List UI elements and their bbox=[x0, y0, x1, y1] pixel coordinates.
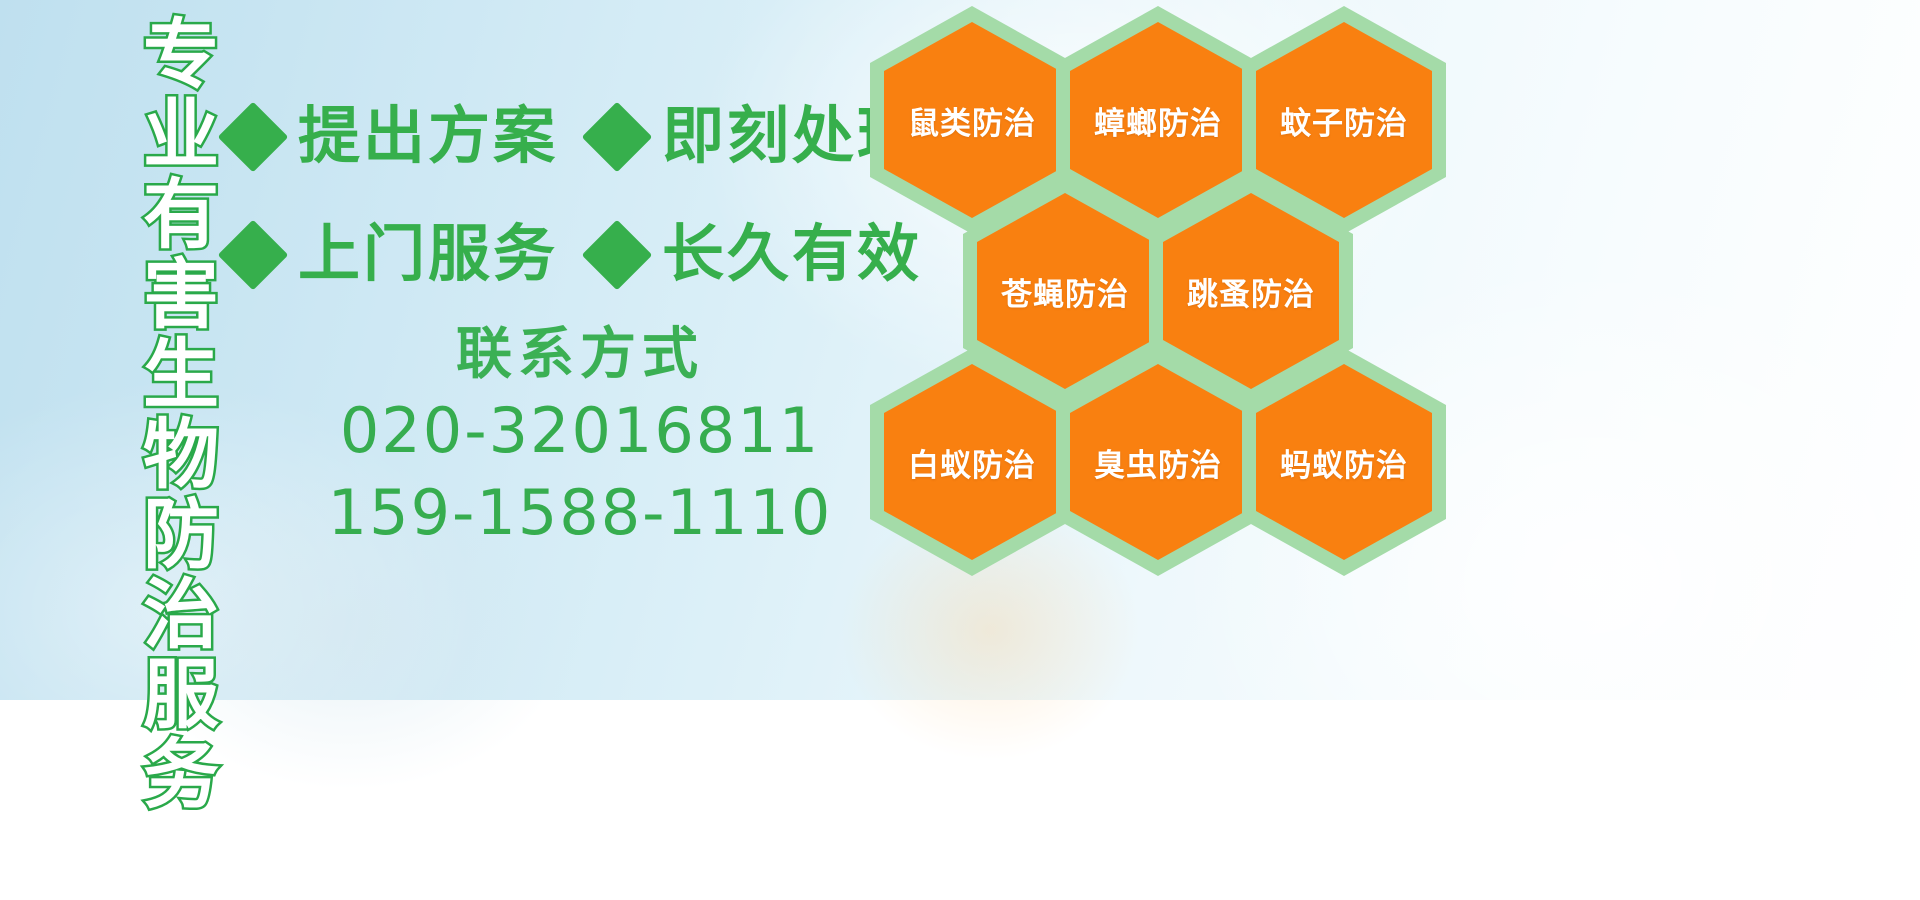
hex-label: 臭虫防治 bbox=[1094, 440, 1222, 485]
vertical-headline: 专业有害生物防治服务 bbox=[108, 14, 212, 814]
hex-inner: 蚊子防治 bbox=[1256, 22, 1432, 218]
hex-inner: 蚂蚁防治 bbox=[1256, 364, 1432, 560]
diamond-icon bbox=[582, 102, 653, 173]
diamond-icon bbox=[218, 220, 289, 291]
service-honeycomb: 鼠类防治 蟑螂防治 蚊子防治 苍蝇防治 跳蚤防治 白蚁防治 bbox=[852, 0, 1472, 568]
phone-number-mobile[interactable]: 159-1588-1110 bbox=[300, 472, 860, 554]
contact-title: 联系方式 bbox=[300, 318, 860, 390]
hex-inner: 蟑螂防治 bbox=[1070, 22, 1246, 218]
slogan-row: 提出方案 即刻处理 bbox=[228, 78, 888, 196]
hex-label: 白蚁防治 bbox=[908, 440, 1036, 485]
hex-inner: 白蚁防治 bbox=[884, 364, 1060, 560]
hex-label: 苍蝇防治 bbox=[1001, 269, 1129, 314]
contact-block: 联系方式 020-32016811 159-1588-1110 bbox=[300, 318, 860, 553]
hex-inner: 苍蝇防治 bbox=[977, 193, 1153, 389]
slogan-item: 上门服务 bbox=[228, 224, 558, 286]
phone-number-landline[interactable]: 020-32016811 bbox=[300, 390, 860, 472]
promo-banner: 专业有害生物防治服务 提出方案 即刻处理 上门服务 长久有效 bbox=[0, 0, 1920, 700]
diamond-icon bbox=[582, 220, 653, 291]
hex-label: 蚂蚁防治 bbox=[1280, 440, 1408, 485]
slogan-label: 上门服务 bbox=[298, 224, 558, 286]
slogan-label: 提出方案 bbox=[298, 106, 558, 168]
hex-label: 跳蚤防治 bbox=[1187, 269, 1315, 314]
hex-label: 鼠类防治 bbox=[908, 98, 1036, 143]
hex-label: 蚊子防治 bbox=[1280, 98, 1408, 143]
hex-inner: 臭虫防治 bbox=[1070, 364, 1246, 560]
diamond-icon bbox=[218, 102, 289, 173]
slogan-row: 上门服务 长久有效 bbox=[228, 196, 888, 314]
hex-inner: 跳蚤防治 bbox=[1163, 193, 1339, 389]
hex-inner: 鼠类防治 bbox=[884, 22, 1060, 218]
slogan-list: 提出方案 即刻处理 上门服务 长久有效 bbox=[228, 78, 888, 314]
slogan-item: 提出方案 bbox=[228, 106, 558, 168]
hex-label: 蟑螂防治 bbox=[1094, 98, 1222, 143]
